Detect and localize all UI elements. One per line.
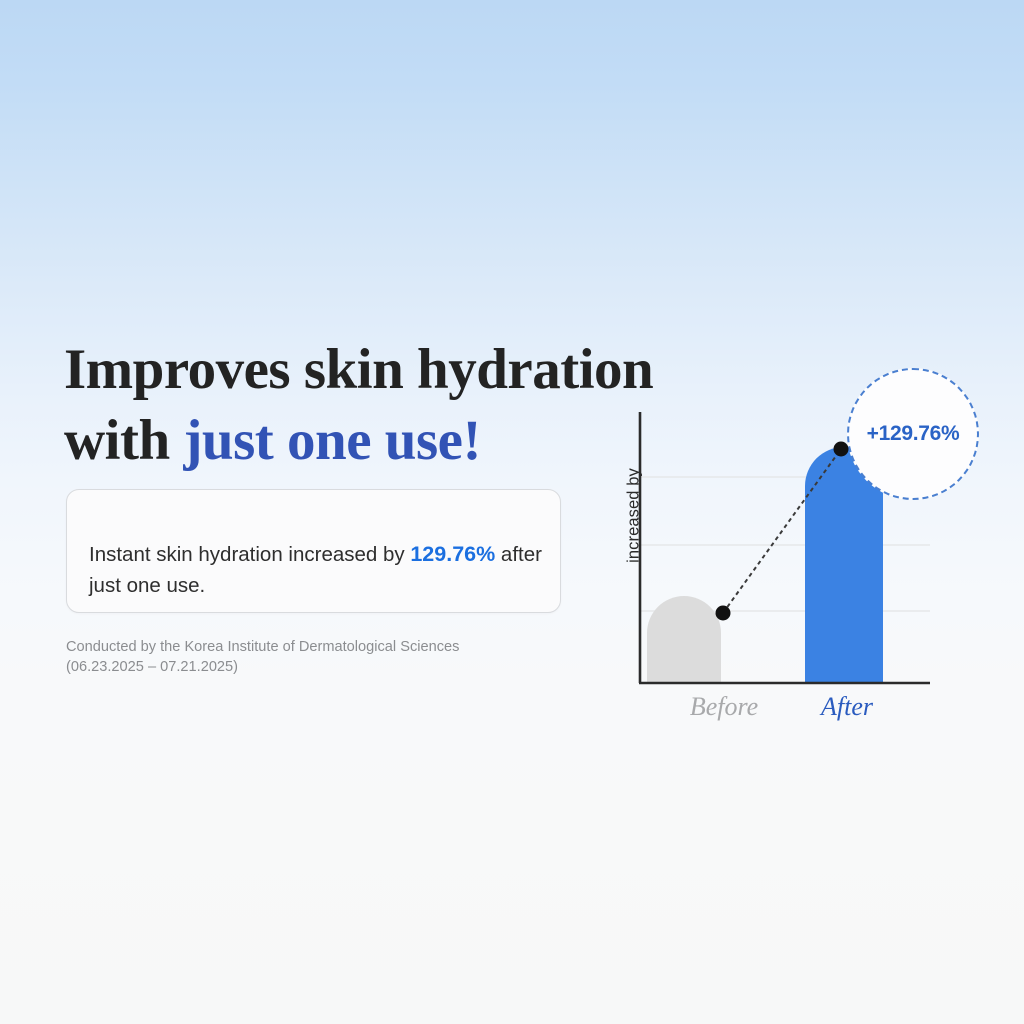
increase-badge: +129.76%: [847, 368, 979, 500]
x-tick-label-after: After: [772, 692, 922, 722]
chart-gridlines: [640, 477, 930, 611]
stat-card-text-before: Instant skin hydration increased by: [89, 543, 410, 566]
footnote-line-2: (06.23.2025 – 07.21.2025): [66, 657, 586, 677]
headline-line-2-plain: with: [64, 409, 183, 472]
poster-canvas: Improves skin hydration with just one us…: [0, 0, 1024, 1024]
stat-card: Instant skin hydration increased by 129.…: [66, 489, 561, 613]
data-point-before: [716, 606, 731, 621]
stat-card-text: Instant skin hydration increased by 129.…: [89, 539, 549, 601]
before-after-chart: increased by Before After +129.76%: [596, 398, 996, 728]
footnote: Conducted by the Korea Institute of Derm…: [66, 637, 586, 677]
headline-accent: just one use!: [183, 409, 481, 472]
stat-card-figure: 129.76%: [410, 542, 495, 566]
data-point-after: [834, 442, 849, 457]
increase-badge-label: +129.76%: [867, 422, 960, 446]
headline-line-1: Improves skin hydration: [64, 334, 824, 405]
footnote-line-1: Conducted by the Korea Institute of Derm…: [66, 637, 586, 657]
bar-before: [647, 596, 721, 683]
y-axis-title: increased by: [625, 456, 644, 576]
